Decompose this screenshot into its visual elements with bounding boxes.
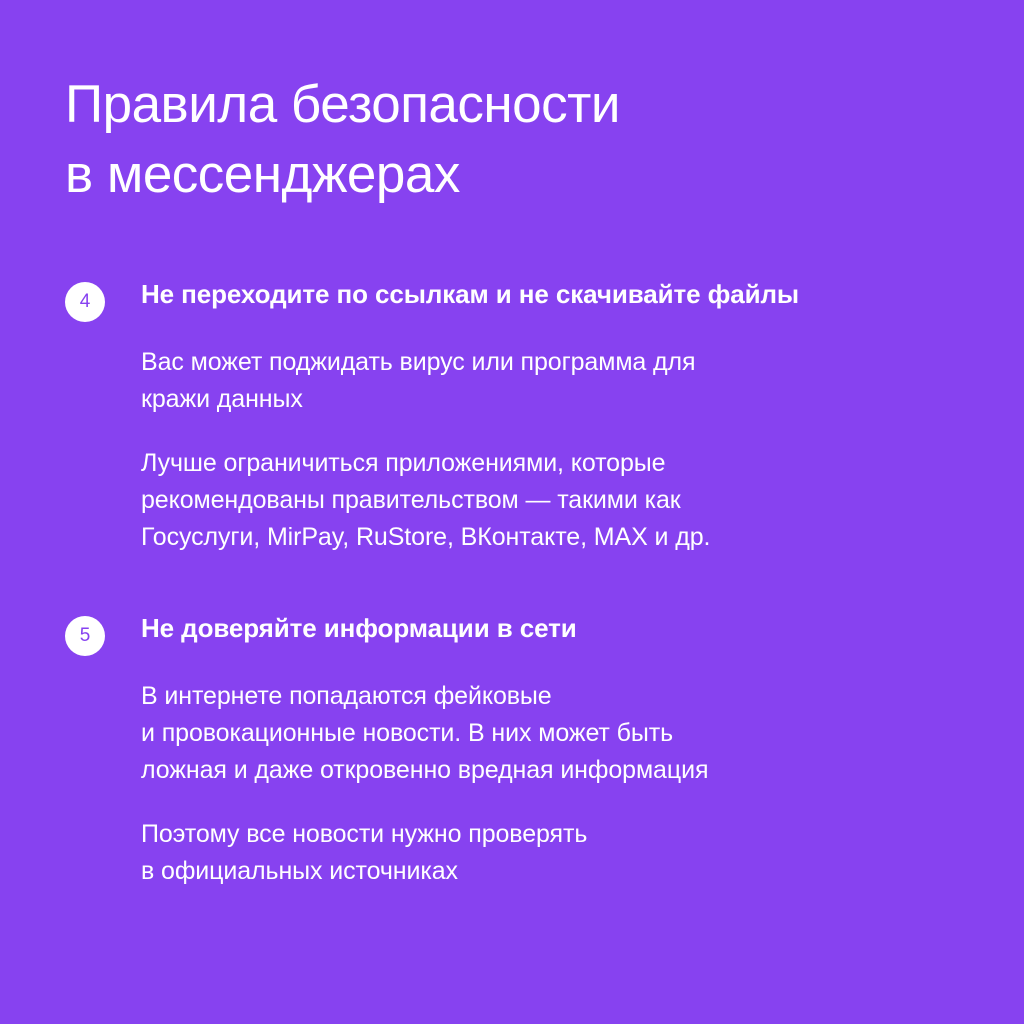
rule-body: В интернете попадаются фейковые и провок… [141, 678, 954, 890]
rule-title: Не доверяйте информации в сети [141, 610, 856, 647]
rule-paragraph: Лучше ограничиться приложениями, которые… [141, 445, 901, 556]
page-title: Правила безопасности в мессенджерах [65, 70, 954, 210]
rule-paragraph: В интернете попадаются фейковые и провок… [141, 678, 901, 789]
rule-number-badge: 4 [65, 282, 105, 322]
rule-item: 5 Не доверяйте информации в сети В интер… [65, 610, 954, 890]
rule-header: 5 Не доверяйте информации в сети [65, 610, 954, 656]
rule-title: Не переходите по ссылкам и не скачивайте… [141, 276, 856, 313]
rule-item: 4 Не переходите по ссылкам и не скачивай… [65, 276, 954, 556]
infographic-slide: Правила безопасности в мессенджерах 4 Не… [0, 0, 1024, 1024]
rule-header: 4 Не переходите по ссылкам и не скачивай… [65, 276, 954, 322]
rule-paragraph: Поэтому все новости нужно проверять в оф… [141, 816, 901, 890]
rules-list: 4 Не переходите по ссылкам и не скачивай… [65, 276, 954, 890]
rule-number-badge: 5 [65, 616, 105, 656]
rule-body: Вас может поджидать вирус или программа … [141, 344, 954, 556]
rule-paragraph: Вас может поджидать вирус или программа … [141, 344, 901, 418]
